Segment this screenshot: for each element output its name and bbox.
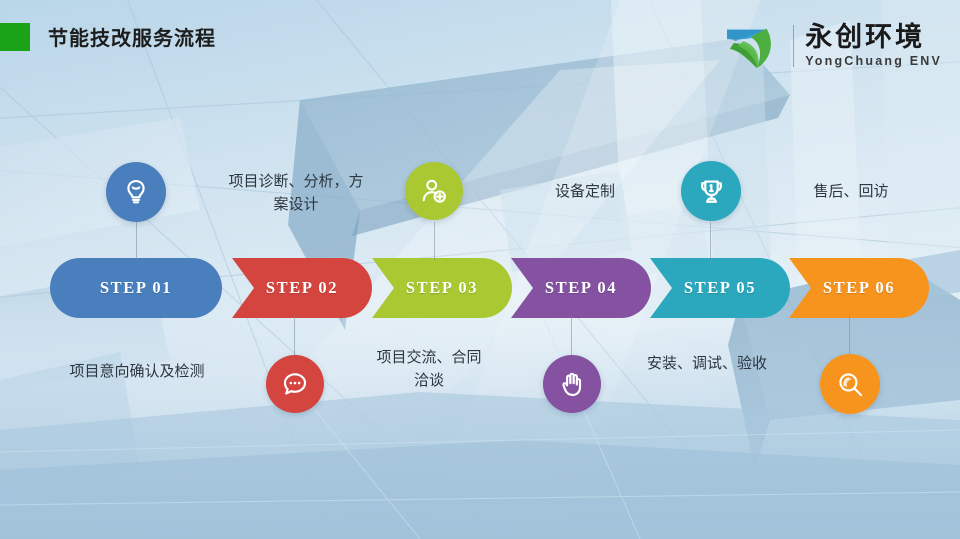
connector-stem-6	[849, 316, 850, 356]
chat-bubble-glyph	[280, 369, 310, 399]
caption-step-01: 项目意向确认及检测	[22, 360, 252, 383]
logo-divider	[793, 25, 794, 67]
process-steps: STEP 01 STEP 02 STEP 03 STEP 04	[0, 258, 960, 318]
step-03[interactable]: STEP 03	[372, 258, 512, 318]
page-title: 节能技改服务流程	[48, 22, 216, 51]
lightbulb-icon[interactable]	[106, 162, 166, 222]
magnifier-glyph	[835, 369, 866, 400]
step-06[interactable]: STEP 06	[789, 258, 929, 318]
slide-canvas: 节能技改服务流程 永创环境 YongChuang ENV STEP 01	[0, 0, 960, 539]
caption-step-04: 设备定制	[520, 180, 650, 203]
connector-stem-5	[710, 222, 711, 260]
logo-mark-icon	[724, 20, 782, 72]
lightbulb-glyph	[121, 177, 151, 207]
connector-stem-2	[294, 316, 295, 356]
trophy-glyph	[696, 176, 727, 207]
logo-name-en: YongChuang ENV	[805, 55, 942, 68]
caption-step-02: 项目诊断、分析，方 案设计	[196, 170, 396, 217]
trophy-icon[interactable]	[681, 161, 741, 221]
connector-stem-3	[434, 222, 435, 260]
step-05[interactable]: STEP 05	[650, 258, 790, 318]
logo-text: 永创环境 YongChuang ENV	[805, 24, 942, 68]
chat-bubble-icon[interactable]	[266, 355, 324, 413]
caption-step-06: 售后、回访	[786, 180, 916, 203]
step-06-label: STEP 06	[823, 278, 895, 298]
connector-stem-1	[136, 222, 137, 260]
connector-stem-4	[571, 316, 572, 356]
caption-step-03: 项目交流、合同 洽谈	[340, 346, 518, 393]
step-01-label: STEP 01	[100, 278, 172, 298]
slide-title-bar: 节能技改服务流程	[0, 22, 216, 51]
hand-icon[interactable]	[543, 355, 601, 413]
step-03-label: STEP 03	[406, 278, 478, 298]
logo-name-cn: 永创环境	[805, 24, 942, 51]
hand-glyph	[557, 369, 587, 399]
add-user-glyph	[419, 176, 449, 206]
step-05-label: STEP 05	[684, 278, 756, 298]
company-logo: 永创环境 YongChuang ENV	[724, 20, 942, 72]
step-04-label: STEP 04	[545, 278, 617, 298]
caption-step-05: 安装、调试、验收	[612, 352, 802, 375]
step-04[interactable]: STEP 04	[511, 258, 651, 318]
search-icon[interactable]	[820, 354, 880, 414]
step-02[interactable]: STEP 02	[232, 258, 372, 318]
step-02-label: STEP 02	[266, 278, 338, 298]
add-user-icon[interactable]	[405, 162, 463, 220]
step-01[interactable]: STEP 01	[50, 258, 222, 318]
title-marker	[0, 23, 30, 51]
